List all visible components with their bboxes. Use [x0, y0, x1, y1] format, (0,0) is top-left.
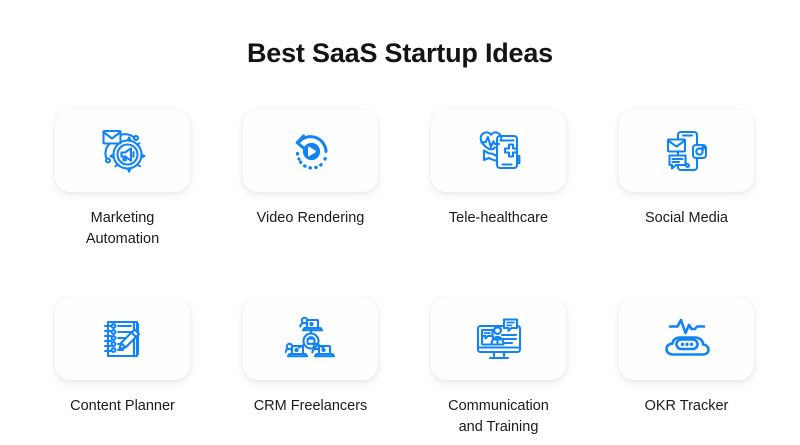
idea-card-tele-healthcare[interactable]: Tele-healthcare [431, 110, 566, 250]
card-label: Content Planner [70, 396, 175, 417]
card-surface[interactable] [431, 298, 566, 380]
idea-card-marketing-automation[interactable]: Marketing Automation [55, 110, 190, 250]
card-label: OKR Tracker [645, 396, 729, 417]
card-label: CRM Freelancers [254, 396, 368, 417]
tele-healthcare-icon [473, 125, 525, 177]
okr-tracker-icon [661, 313, 713, 365]
card-label: Marketing Automation [55, 208, 190, 250]
content-planner-icon [97, 313, 149, 365]
idea-card-social-media[interactable]: Social Media [619, 110, 754, 250]
crm-freelancers-icon [285, 313, 337, 365]
idea-card-okr-tracker[interactable]: OKR Tracker [619, 298, 754, 438]
card-surface[interactable] [431, 110, 566, 192]
card-label: Video Rendering [257, 208, 365, 229]
social-media-icon [661, 125, 713, 177]
card-label: Social Media [645, 208, 728, 229]
page-title: Best SaaS Startup Ideas [0, 38, 800, 69]
card-label: Tele-healthcare [449, 208, 548, 229]
idea-card-communication-training[interactable]: Communication and Training [431, 298, 566, 438]
page-root: Best SaaS Startup Ideas [0, 0, 800, 445]
card-row-2: Content Planner [55, 298, 755, 438]
idea-card-grid: Marketing Automation [55, 110, 755, 438]
idea-card-crm-freelancers[interactable]: CRM Freelancers [243, 298, 378, 438]
idea-card-content-planner[interactable]: Content Planner [55, 298, 190, 438]
video-rendering-icon [285, 125, 337, 177]
card-surface[interactable] [619, 110, 754, 192]
communication-training-icon [473, 313, 525, 365]
card-surface[interactable] [55, 110, 190, 192]
card-surface[interactable] [243, 298, 378, 380]
idea-card-video-rendering[interactable]: Video Rendering [243, 110, 378, 250]
card-label: Communication and Training [448, 396, 549, 438]
card-surface[interactable] [619, 298, 754, 380]
card-surface[interactable] [55, 298, 190, 380]
card-surface[interactable] [243, 110, 378, 192]
card-row-1: Marketing Automation [55, 110, 755, 250]
marketing-automation-icon [97, 125, 149, 177]
